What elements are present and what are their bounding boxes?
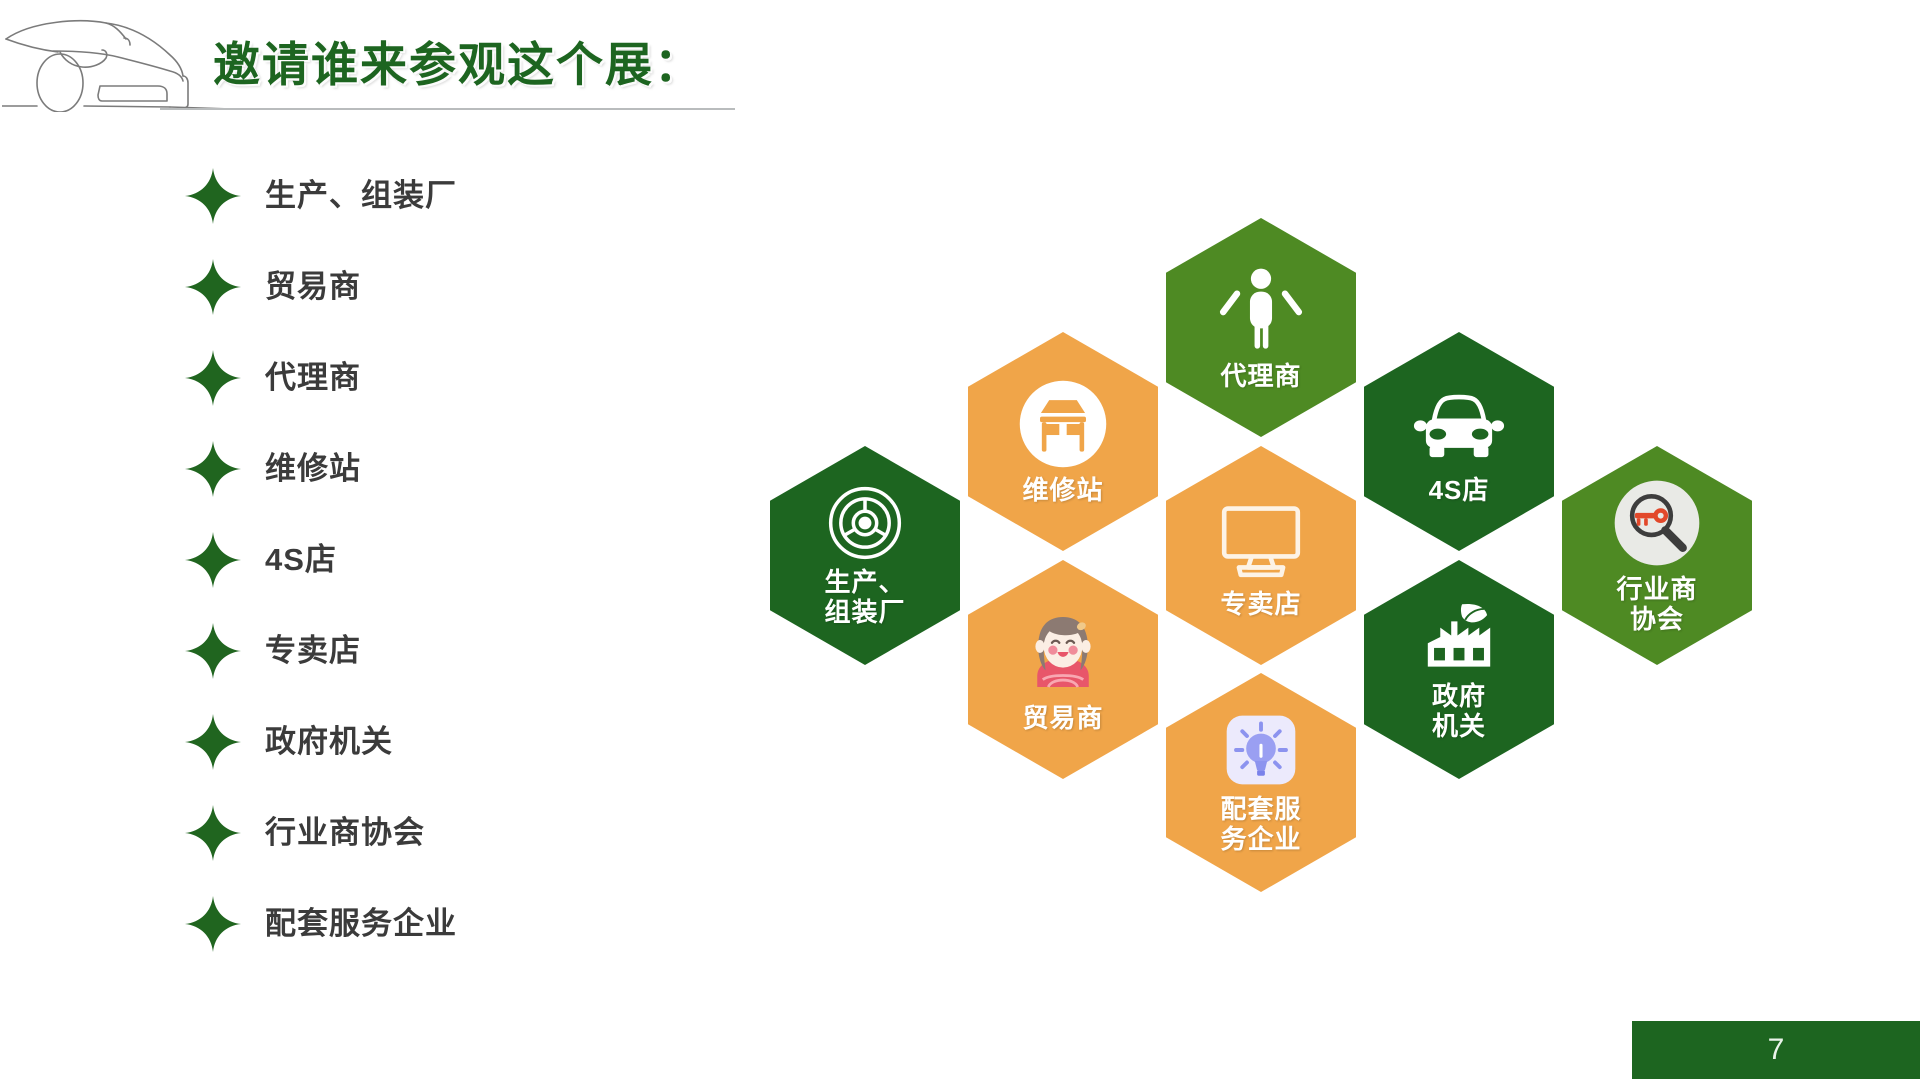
hex-label-line2: 组装厂 [824, 598, 905, 627]
four-point-star-icon [185, 896, 241, 952]
hex-label-line1: 配套服 [1220, 795, 1301, 824]
garage-workshop-icon [1017, 378, 1109, 470]
hex-label-line1: 专卖店 [1220, 590, 1301, 619]
hex-label-line1: 维修站 [1022, 476, 1103, 505]
hex-label: 代理商 [1220, 362, 1301, 391]
list-item: 贸易商 [185, 241, 705, 332]
magnifier-key-icon [1611, 477, 1703, 569]
hex-label: 生产、 组装厂 [824, 568, 905, 626]
gear-wheel-icon [826, 484, 904, 562]
title-underline [160, 108, 735, 110]
hex-label-line1: 代理商 [1220, 362, 1301, 391]
hex-production[interactable]: 生产、 组装厂 [770, 446, 960, 665]
hex-label-line2: 务企业 [1220, 825, 1301, 854]
monitor-icon [1215, 492, 1307, 584]
list-item: 配套服务企业 [185, 878, 705, 969]
page-number-bar: 7 [1632, 1021, 1920, 1079]
hex-label-line1: 4S店 [1429, 476, 1490, 505]
list-item-label: 4S店 [265, 534, 337, 579]
list-item: 代理商 [185, 332, 705, 423]
hex-government[interactable]: 政府 机关 [1364, 560, 1554, 779]
four-point-star-icon [185, 350, 241, 406]
list-item-label: 专卖店 [265, 625, 361, 670]
four-point-star-icon [185, 532, 241, 588]
hex-store[interactable]: 专卖店 [1166, 446, 1356, 665]
hex-trader[interactable]: 贸易商 [968, 560, 1158, 779]
invitee-list: 生产、组装厂 贸易商 代理商 维修站 4S店 专卖店 政府机关 [185, 150, 705, 969]
car-sketch-icon [2, 12, 232, 112]
list-item: 4S店 [185, 514, 705, 605]
page-number: 7 [1768, 1033, 1785, 1067]
hex-label-line1: 生产、 [824, 568, 905, 597]
hex-label-line1: 贸易商 [1022, 704, 1103, 733]
lightbulb-icon [1222, 711, 1300, 789]
list-item-label: 生产、组装厂 [265, 170, 457, 215]
hex-label-line1: 政府 [1432, 682, 1486, 711]
four-point-star-icon [185, 714, 241, 770]
hex-label-line1: 行业商 [1616, 575, 1697, 604]
hex-label: 政府 机关 [1432, 682, 1486, 740]
hex-label-line2: 机关 [1432, 712, 1486, 741]
list-item-label: 维修站 [265, 443, 361, 488]
hex-label-line2: 协会 [1616, 605, 1697, 634]
hex-label: 4S店 [1429, 476, 1490, 505]
four-point-star-icon [185, 623, 241, 679]
four-point-star-icon [185, 441, 241, 497]
list-item: 维修站 [185, 423, 705, 514]
slide-canvas: 邀请谁来参观这个展： 生产、组装厂 贸易商 代理商 维修站 4S店 专卖店 [0, 0, 1920, 1079]
hex-dealer-4s[interactable]: 4S店 [1364, 332, 1554, 551]
hex-label: 专卖店 [1220, 590, 1301, 619]
hex-label: 行业商 协会 [1616, 575, 1697, 633]
person-arms-up-icon [1215, 264, 1307, 356]
list-item-label: 行业商协会 [265, 807, 425, 852]
four-point-star-icon [185, 168, 241, 224]
girl-avatar-icon [1017, 606, 1109, 698]
page-title: 邀请谁来参观这个展： [213, 26, 703, 95]
four-point-star-icon [185, 805, 241, 861]
list-item-label: 代理商 [265, 352, 361, 397]
hex-label: 配套服 务企业 [1220, 795, 1301, 853]
hex-label: 维修站 [1022, 476, 1103, 505]
hex-association[interactable]: 行业商 协会 [1562, 446, 1752, 665]
four-point-star-icon [185, 259, 241, 315]
list-item: 生产、组装厂 [185, 150, 705, 241]
list-item: 专卖店 [185, 605, 705, 696]
hex-service[interactable]: 配套服 务企业 [1166, 673, 1356, 892]
list-item-label: 贸易商 [265, 261, 361, 306]
list-item-label: 政府机关 [265, 716, 393, 761]
list-item-label: 配套服务企业 [265, 898, 457, 943]
car-front-icon [1413, 378, 1505, 470]
eco-factory-icon [1420, 598, 1498, 676]
list-item: 政府机关 [185, 696, 705, 787]
hex-label: 贸易商 [1022, 704, 1103, 733]
hexagon-diagram: 生产、 组装厂 维修站 [760, 195, 1770, 875]
hex-agent[interactable]: 代理商 [1166, 218, 1356, 437]
list-item: 行业商协会 [185, 787, 705, 878]
hex-repair[interactable]: 维修站 [968, 332, 1158, 551]
